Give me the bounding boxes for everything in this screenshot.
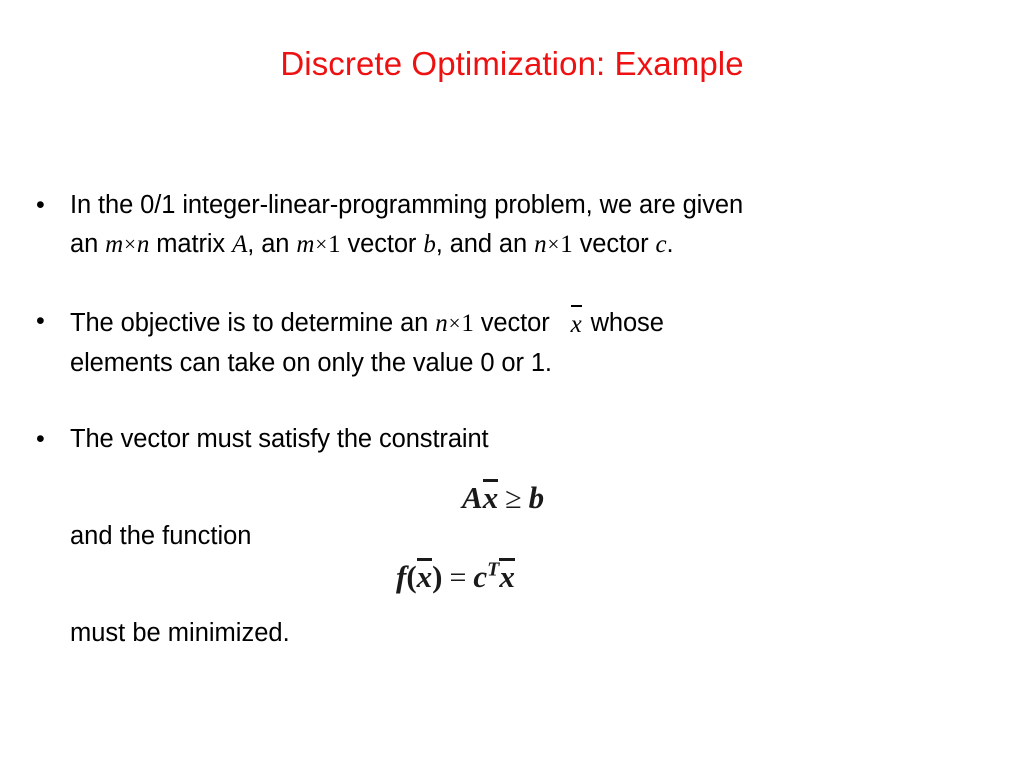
paragraph-spacer-2	[0, 383, 1024, 420]
eq-var-b: b	[529, 480, 545, 515]
math-num-1-2: 1	[560, 231, 572, 258]
eq-superscript-transpose: T	[487, 559, 499, 581]
math-times-icon-3: ×	[546, 232, 560, 256]
bullet-marker-icon: •	[36, 420, 50, 459]
bullet-marker-icon: •	[36, 186, 50, 225]
bullet-item-2: • The objective is to determine an n×1 v…	[0, 302, 1024, 383]
eq-relation-equals-icon: =	[442, 561, 473, 594]
eq-paren-close: )	[432, 559, 442, 594]
bullet-3-line-1: The vector must satisfy the constraint	[70, 420, 1024, 459]
bullet-2-line-1: The objective is to determine an n×1 vec…	[70, 302, 1024, 344]
text-objective: The objective is to determine an	[70, 309, 435, 337]
eq-var-x-bar-1: x	[417, 557, 433, 595]
text-matrix: matrix	[149, 230, 232, 258]
eq-var-x-bar: x	[483, 478, 499, 516]
math-var-m-2: m	[296, 231, 314, 258]
math-var-n-2: n	[534, 231, 546, 258]
equation-constraint: Ax≥b	[462, 478, 544, 516]
paragraph-spacer-1	[0, 265, 1024, 302]
continuation-line-2-text: must be minimized.	[70, 619, 290, 647]
continuation-line-1-text: and the function	[70, 522, 251, 550]
eq-func-f: f	[396, 559, 406, 594]
text-whose: whose	[584, 309, 664, 337]
bullet-marker-icon: •	[36, 302, 50, 341]
text-and-an: , and an	[436, 230, 534, 258]
eq-relation-geq-icon: ≥	[498, 482, 528, 515]
math-var-x-bar: x	[571, 303, 582, 344]
bullet-item-1: • In the 0/1 integer-linear-programming …	[0, 186, 1024, 265]
math-times-icon: ×	[123, 232, 137, 256]
math-var-c: c	[655, 231, 666, 258]
eq-paren-open: (	[406, 559, 416, 594]
text-an-2: , an	[247, 230, 296, 258]
text-vector-3: vector	[474, 309, 557, 337]
eq-var-x-bar-2: x	[499, 557, 515, 595]
continuation-line-1: and the function	[0, 517, 1024, 556]
text-an: an	[70, 230, 105, 258]
bullet-2-line-2-text: elements can take on only the value 0 or…	[70, 349, 552, 377]
bullet-1-line-1: In the 0/1 integer-linear-programming pr…	[70, 186, 1024, 225]
math-num-1: 1	[328, 231, 340, 258]
math-var-A: A	[232, 231, 247, 258]
text-period: .	[666, 230, 673, 258]
continuation-line-2: must be minimized.	[0, 614, 1024, 653]
bullet-item-3: • The vector must satisfy the constraint	[0, 420, 1024, 459]
math-var-b: b	[423, 231, 435, 258]
math-num-1-3: 1	[461, 310, 473, 337]
text-vector: vector	[341, 230, 424, 258]
text-vector-2: vector	[573, 230, 656, 258]
slide-title: Discrete Optimization: Example	[0, 44, 1024, 84]
bullet-1-line-2: an m×n matrix A, an m×1 vector b, and an…	[70, 225, 1024, 265]
math-times-icon-4: ×	[448, 311, 462, 335]
math-var-n: n	[137, 231, 149, 258]
bullet-3-line-1-text: The vector must satisfy the constraint	[70, 425, 489, 453]
math-times-icon-2: ×	[314, 232, 328, 256]
math-var-n-3: n	[435, 310, 447, 337]
eq-var-c: c	[473, 559, 487, 594]
slide-canvas: Discrete Optimization: Example • In the …	[0, 0, 1024, 768]
eq-var-A: A	[462, 480, 483, 515]
equation-objective: f(x)=cTx	[396, 557, 515, 595]
bullet-1-line-1-text: In the 0/1 integer-linear-programming pr…	[70, 191, 743, 219]
math-var-m: m	[105, 231, 123, 258]
bullet-2-line-2: elements can take on only the value 0 or…	[70, 344, 1024, 383]
